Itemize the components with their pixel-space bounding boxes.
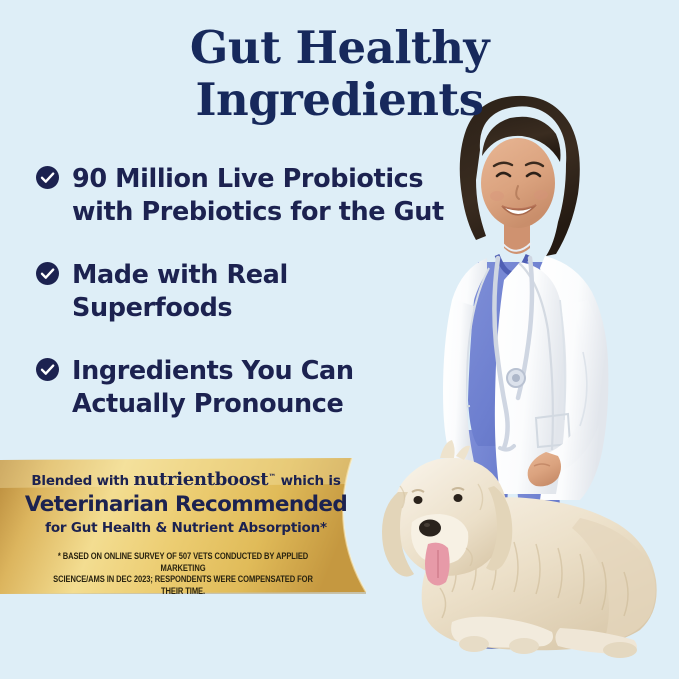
ribbon-footnote: * BASED ON ONLINE SURVEY OF 507 VETS CON… [44, 551, 321, 597]
brand-name: nutrientboost [133, 469, 268, 490]
veterinarian-figure [443, 96, 608, 649]
list-item: Ingredients You Can Actually Pronounce [36, 355, 456, 421]
ribbon-line-2: Veterinarian Recommended [0, 492, 372, 517]
ribbon-text-block: Blended with nutrientboost™ which is Vet… [0, 458, 372, 536]
benefit-text-line-1: Ingredients You Can [72, 356, 354, 386]
benefit-text-line-1: 90 Million Live Probiotics [72, 164, 423, 194]
footnote-line-2: SCIENCE/AMS IN DEC 2023; RESPONDENTS WER… [44, 574, 321, 597]
trademark-symbol: ™ [268, 473, 276, 482]
benefit-text: Made with Real Superfoods [72, 259, 456, 325]
page-title-line-1: Gut Healthy [0, 22, 679, 74]
check-circle-icon [36, 358, 59, 381]
ribbon-line-3: for Gut Health & Nutrient Absorption* [0, 520, 372, 536]
veterinarian-recommended-ribbon: Blended with nutrientboost™ which is Vet… [0, 458, 390, 594]
dog-figure [382, 440, 657, 658]
stethoscope-icon [494, 258, 532, 450]
footnote-line-1: * BASED ON ONLINE SURVEY OF 507 VETS CON… [44, 551, 321, 574]
list-item: 90 Million Live Probiotics with Prebioti… [36, 163, 456, 229]
benefit-text-line-2: with Prebiotics for the Gut [72, 197, 444, 227]
ribbon-prefix: Blended with [31, 473, 133, 489]
ribbon-line-1: Blended with nutrientboost™ which is [0, 469, 372, 490]
check-circle-icon [36, 262, 59, 285]
list-item: Made with Real Superfoods [36, 259, 456, 325]
ribbon-suffix: which is [276, 473, 341, 489]
benefit-text-line-1: Made with Real Superfoods [72, 260, 288, 323]
benefit-text: 90 Million Live Probiotics with Prebioti… [72, 163, 444, 229]
benefit-list: 90 Million Live Probiotics with Prebioti… [36, 163, 456, 421]
page-title: Gut Healthy Ingredients [0, 22, 679, 126]
benefit-text-line-2: Actually Pronounce [72, 389, 343, 419]
product-claims-card: Gut Healthy Ingredients 90 Million Live … [0, 0, 679, 679]
page-title-line-2: Ingredients [0, 74, 679, 126]
benefit-text: Ingredients You Can Actually Pronounce [72, 355, 354, 421]
check-circle-icon [36, 166, 59, 189]
